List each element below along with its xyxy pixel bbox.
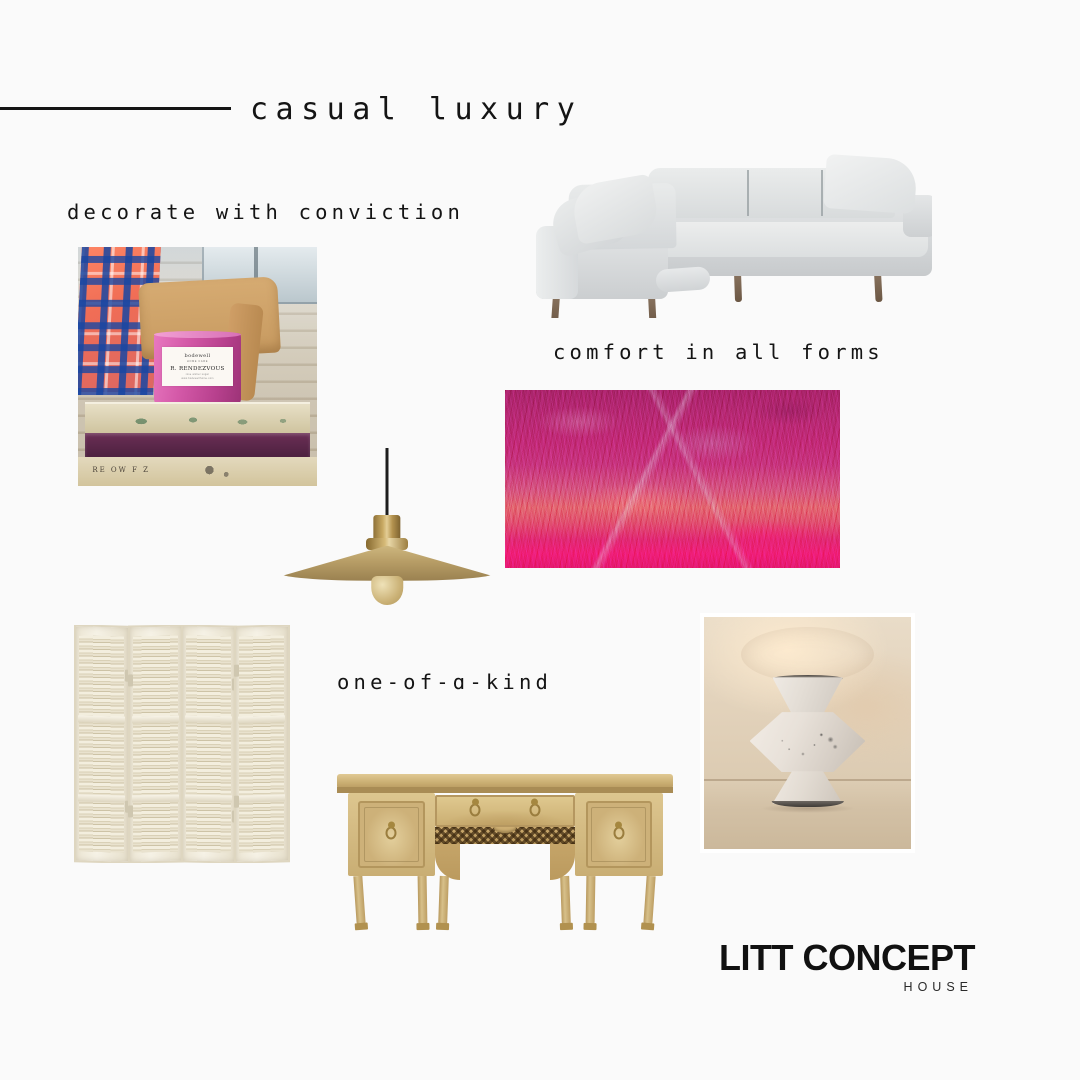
candle-brand-text: bodewell [184,353,210,359]
sideboard-leg [439,876,448,924]
sideboard-leg [418,876,427,924]
sideboard-right-cabinet [575,793,663,877]
photo-pink-shag-rug [505,390,840,568]
book-top-illustrated [85,402,310,433]
shutter-rail [78,795,125,803]
shutter-hinge [234,796,239,808]
lamp-bulb [371,576,403,605]
vase-photo-scene [704,617,911,849]
photo-grey-sectional-sofa [520,126,932,318]
shutter-panel [74,625,130,863]
book-middle-purple [85,433,310,457]
candle-scent-text: R. RENDEZVOUS [170,366,224,372]
candle-scent-notes: rose amber sugar [186,373,210,376]
candle-fine-print: www.bodewellhome.com [181,377,213,380]
sideboard-leg [586,876,595,924]
photo-antique-oak-sideboard [330,770,680,960]
sideboard-top-edge [337,787,673,793]
photo-brass-pendant-lamp [282,448,492,608]
sideboard-fretwork-apron [435,827,575,844]
sideboard-leg [355,876,364,924]
photo-louvered-shutter-screen [70,625,292,863]
brand-logo: LITT CONCEPT HOUSE [700,940,975,994]
shutter-rail [132,715,179,723]
shutter-rail [132,795,179,803]
shutter-rail [238,795,285,803]
shutter-panel [181,625,237,863]
shutter-panel [128,625,184,863]
sideboard-drawer-grain [437,797,573,825]
sofa-bench-seat-cushion [648,222,928,257]
sofa-leg [874,272,883,302]
tagline-comfort-in-all-forms: comfort in all forms [553,340,884,364]
candle-label: bodewell HOME CARE R. RENDEZVOUS rose am… [162,347,234,385]
sideboard-left-cabinet [348,793,436,877]
shutter-louvers [186,636,231,852]
shutter-hinge [128,805,133,817]
sideboard-ring-pull [470,804,481,817]
sideboard-center-drawer [435,795,575,827]
sofa-cushion-seam [747,170,749,216]
sideboard-leg [645,876,654,924]
wall-patina-mark [741,627,873,682]
logo-secondary-text: HOUSE [700,981,973,994]
shutter-rail [78,715,125,723]
shutter-hinge [234,665,239,677]
logo-primary-text: LITT CONCEPT [700,940,975,976]
sideboard-cabinet-door [586,801,653,868]
shutter-panel [234,625,290,863]
lamp-cord [386,448,389,522]
title-rule [0,107,231,110]
sideboard-ring-pull [386,827,397,840]
shutter-rail [185,715,232,723]
shutter-hinge [128,674,133,686]
sofa-leg [734,272,742,302]
photo-ceramic-geometric-vase [700,613,915,853]
tagline-one-of-a-kind: one-of-ɑ-kind [337,670,552,694]
candle-brand-subtext: HOME CARE [187,360,208,363]
sofa-throw-pillow [823,154,917,214]
mood-board: casual luxury decorate with conviction c… [0,0,1080,1080]
shutter-rail [185,795,232,803]
sideboard-ring-pull [613,827,624,840]
sideboard-leg [561,876,570,924]
book-spine-text: RE OW F Z [92,466,150,474]
sideboard-leg-group [330,876,680,960]
sideboard-ring-pull [529,804,540,817]
rug-pile-texture [505,390,840,568]
shutter-louvers [239,636,284,853]
shutter-rail [238,715,285,723]
page-title: casual luxury [250,92,582,127]
shutter-louvers [133,636,178,852]
tagline-decorate-with-conviction: decorate with conviction [67,200,464,224]
sofa-cushion-seam [821,170,823,216]
sideboard-cabinet-door [358,801,425,868]
shutter-louvers [80,636,125,853]
sofa-bolster-cushion [655,266,710,293]
